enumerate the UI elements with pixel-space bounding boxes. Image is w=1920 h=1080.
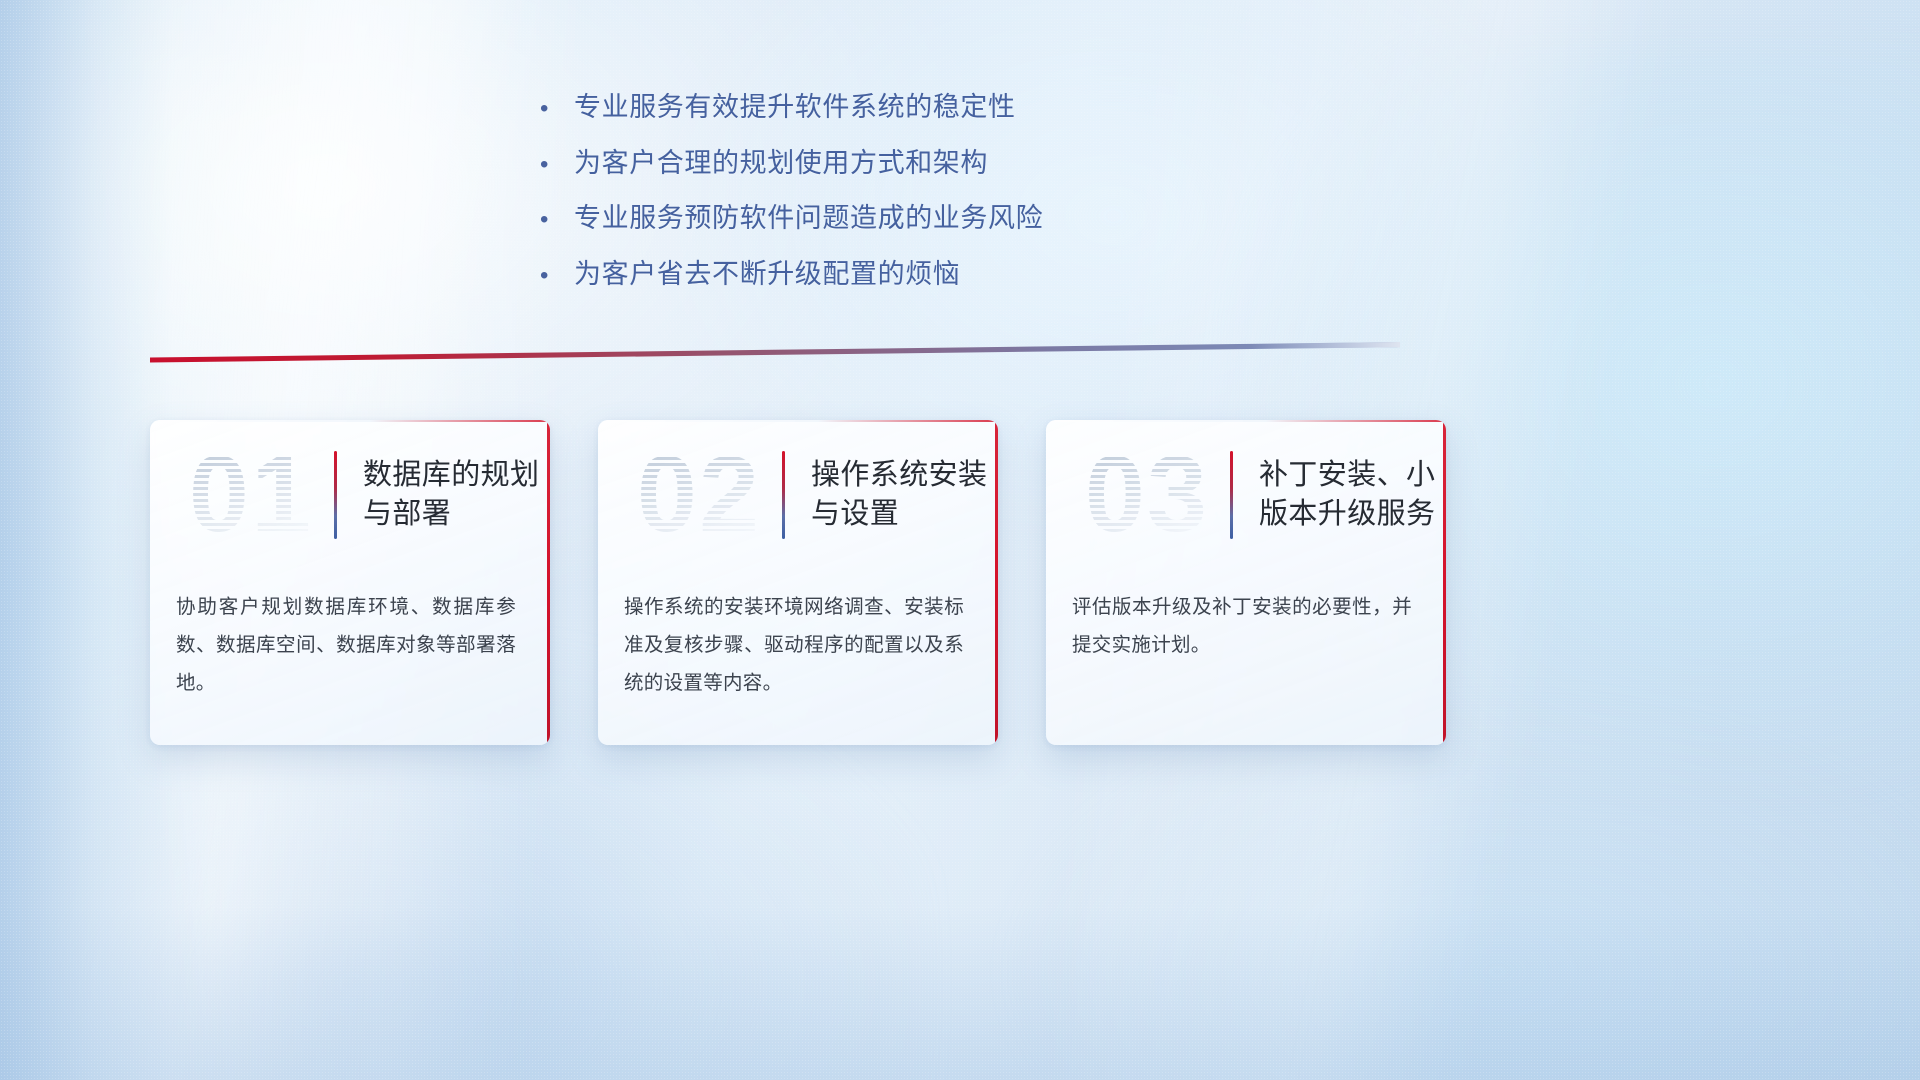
- card-body-text: 操作系统的安装环境网络调查、安装标准及复核步骤、驱动程序的配置以及系统的设置等内…: [624, 588, 964, 702]
- card-body-text: 协助客户规划数据库环境、数据库参数、数据库空间、数据库对象等部署落地。: [176, 588, 516, 702]
- card-title-divider-bar: [1230, 451, 1233, 539]
- bullet-dot-icon: •: [540, 97, 574, 121]
- card-number-text: 01: [189, 439, 313, 551]
- bullet-dot-icon: •: [540, 264, 574, 288]
- card-body: 操作系统的安装环境网络调查、安装标准及复核步骤、驱动程序的配置以及系统的设置等内…: [598, 570, 998, 702]
- service-card[interactable]: 03 补丁安装、小版本升级服务 评估版本升级及补丁安装的必要性，并提交实施计划。: [1046, 420, 1446, 745]
- bullet-item-label: 为客户省去不断升级配置的烦恼: [574, 257, 960, 292]
- benefits-bullet-list: • 专业服务有效提升软件系统的稳定性 • 为客户合理的规划使用方式和架构 • 专…: [540, 90, 1300, 312]
- bullet-item: • 专业服务有效提升软件系统的稳定性: [540, 90, 1300, 125]
- bullet-item: • 为客户省去不断升级配置的烦恼: [540, 257, 1300, 292]
- divider-shape: [150, 342, 1400, 368]
- card-body: 评估版本升级及补丁安装的必要性，并提交实施计划。: [1046, 570, 1446, 664]
- bullet-item-label: 专业服务预防软件问题造成的业务风险: [574, 201, 1043, 236]
- service-card-list: 01 数据库的规划与部署 协助客户规划数据库环境、数据库参数、数据库空间、数据库…: [150, 420, 1450, 745]
- card-body: 协助客户规划数据库环境、数据库参数、数据库空间、数据库对象等部署落地。: [150, 570, 550, 702]
- bullet-dot-icon: •: [540, 153, 574, 177]
- card-title: 数据库的规划与部署: [363, 456, 550, 533]
- bullet-item: • 专业服务预防软件问题造成的业务风险: [540, 201, 1300, 236]
- bullet-dot-icon: •: [540, 208, 574, 232]
- number-stripe-icon: 03: [1072, 439, 1222, 551]
- number-stripe-icon: 02: [624, 439, 774, 551]
- card-title: 操作系统安装与设置: [811, 456, 998, 533]
- card-header: 01 数据库的规划与部署: [150, 420, 550, 570]
- card-number-text: 02: [637, 439, 761, 551]
- section-divider: [150, 342, 1400, 368]
- number-stripe-icon: 01: [176, 439, 326, 551]
- bullet-item-label: 为客户合理的规划使用方式和架构: [574, 146, 988, 181]
- card-header: 03 补丁安装、小版本升级服务: [1046, 420, 1446, 570]
- card-title: 补丁安装、小版本升级服务: [1259, 456, 1446, 533]
- service-card[interactable]: 01 数据库的规划与部署 协助客户规划数据库环境、数据库参数、数据库空间、数据库…: [150, 420, 550, 745]
- service-card[interactable]: 02 操作系统安装与设置 操作系统的安装环境网络调查、安装标准及复核步骤、驱动程…: [598, 420, 998, 745]
- bullet-item: • 为客户合理的规划使用方式和架构: [540, 146, 1300, 181]
- card-number-text: 03: [1085, 439, 1209, 551]
- card-title-divider-bar: [334, 451, 337, 539]
- slide-root: • 专业服务有效提升软件系统的稳定性 • 为客户合理的规划使用方式和架构 • 专…: [0, 0, 1920, 1080]
- card-header: 02 操作系统安装与设置: [598, 420, 998, 570]
- card-number-watermark: 02: [624, 439, 774, 551]
- card-number-watermark: 01: [176, 439, 326, 551]
- bullet-item-label: 专业服务有效提升软件系统的稳定性: [574, 90, 1016, 125]
- card-number-watermark: 03: [1072, 439, 1222, 551]
- card-body-text: 评估版本升级及补丁安装的必要性，并提交实施计划。: [1072, 588, 1412, 664]
- card-title-divider-bar: [782, 451, 785, 539]
